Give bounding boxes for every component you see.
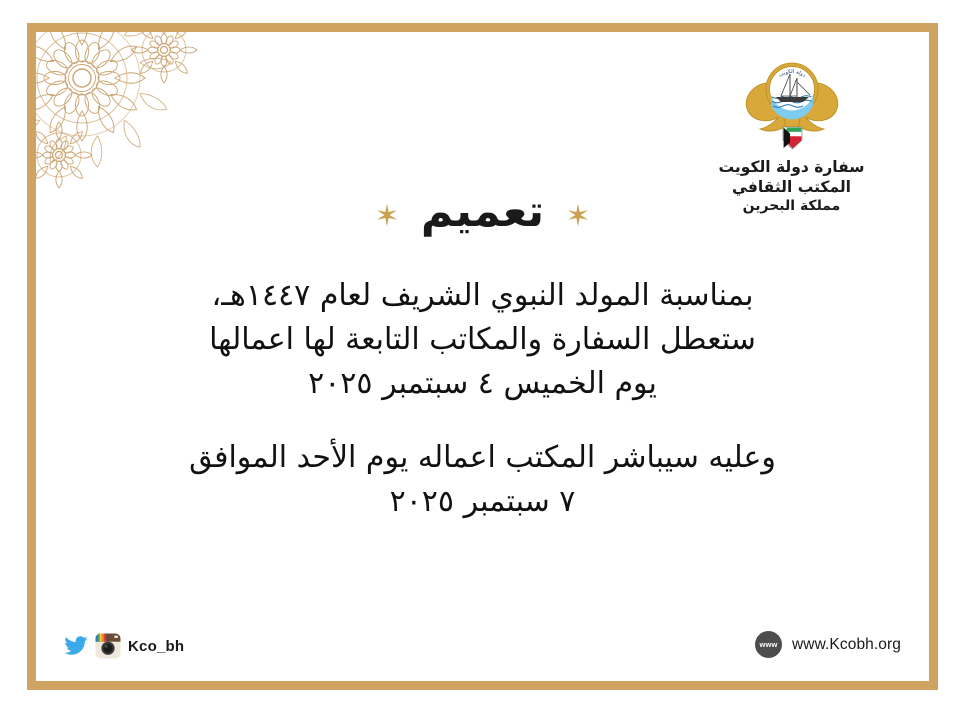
poster-inner: دولة الكويت سفارة دولة الكويت المكتب الث… bbox=[36, 32, 929, 681]
title-row: تعميم bbox=[36, 190, 929, 240]
twitter-bird-icon[interactable] bbox=[64, 636, 88, 656]
six-point-star-icon-right bbox=[566, 203, 590, 227]
announcement-poster: دولة الكويت سفارة دولة الكويت المكتب الث… bbox=[27, 23, 938, 690]
logo-line-embassy: سفارة دولة الكويت bbox=[684, 158, 899, 178]
www-globe-icon: www bbox=[755, 631, 782, 658]
social-handle-text: Kco_bh bbox=[128, 638, 184, 655]
instagram-camera-icon[interactable] bbox=[95, 633, 121, 659]
announcement-paragraph-2: وعليه سيباشر المكتب اعماله يوم الأحد الم… bbox=[123, 436, 843, 524]
social-handles: Kco_bh bbox=[64, 633, 184, 659]
kuwait-state-emblem-icon: دولة الكويت bbox=[740, 54, 844, 154]
website-link[interactable]: www www.Kcobh.org bbox=[755, 631, 901, 658]
six-point-star-icon-left bbox=[375, 203, 399, 227]
emblem-wrap: دولة الكويت bbox=[684, 54, 899, 154]
announcement-paragraph-1: بمناسبة المولد النبوي الشريف لعام ١٤٤٧هـ… bbox=[113, 274, 853, 406]
footer: Kco_bh www www.Kcobh.org bbox=[36, 623, 929, 659]
page-title: تعميم bbox=[421, 190, 544, 240]
announcement-body: بمناسبة المولد النبوي الشريف لعام ١٤٤٧هـ… bbox=[36, 274, 929, 524]
website-text: www.Kcobh.org bbox=[792, 636, 901, 654]
